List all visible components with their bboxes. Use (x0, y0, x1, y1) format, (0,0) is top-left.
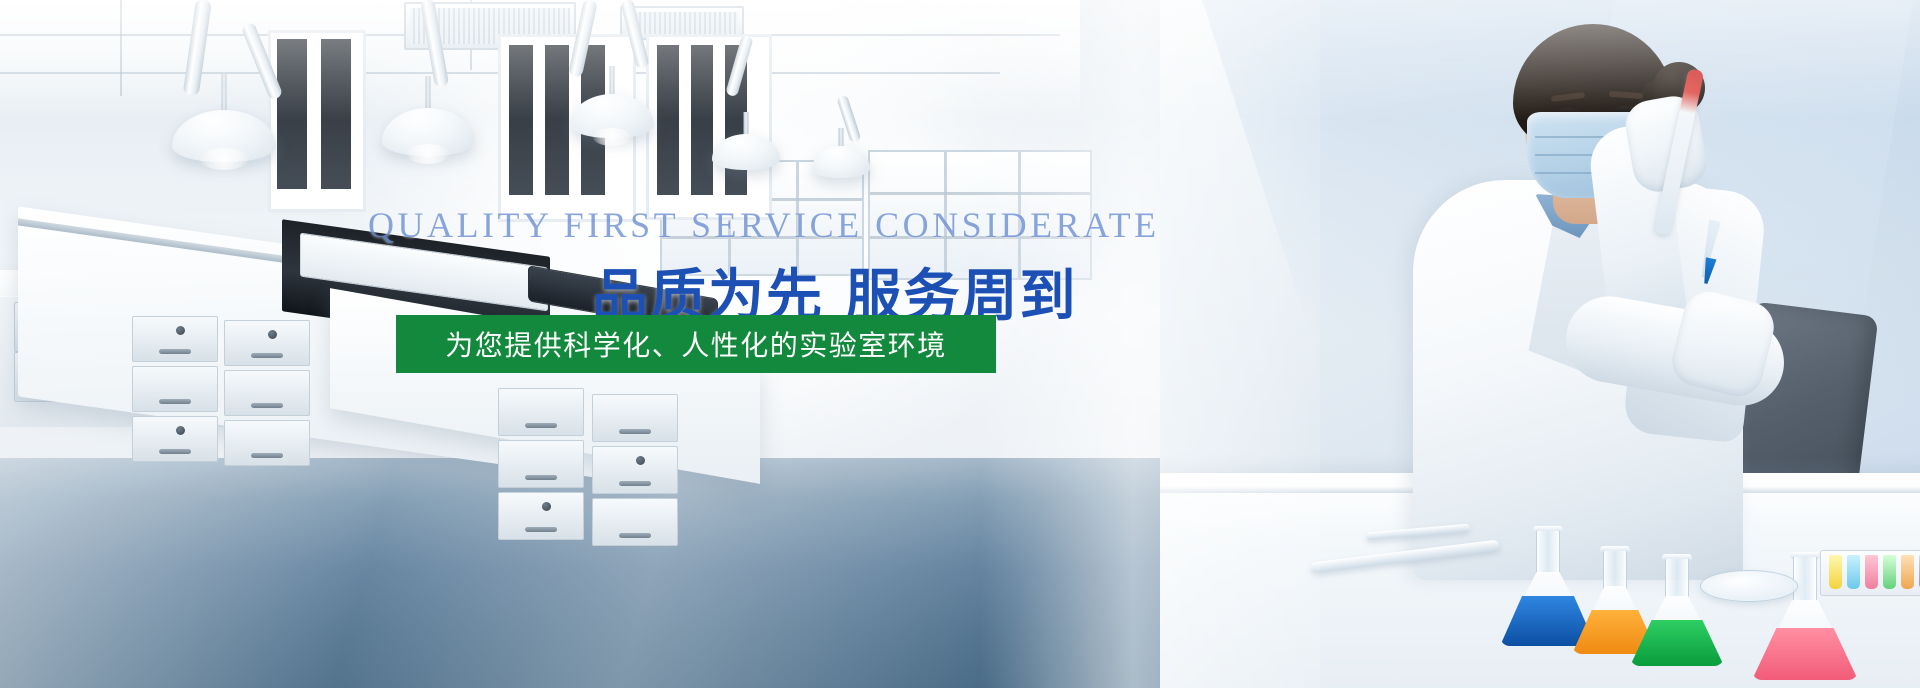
banner-subtitle: 为您提供科学化、人性化的实验室环境 (445, 324, 947, 364)
english-tagline: QUALITY FIRST SERVICE CONSIDERATE (368, 204, 1160, 246)
hero-banner: QUALITY FIRST SERVICE CONSIDERATE 品质为先 服… (0, 0, 1920, 688)
subtitle-band: 为您提供科学化、人性化的实验室环境 (396, 315, 996, 373)
banner-text-overlay: QUALITY FIRST SERVICE CONSIDERATE 品质为先 服… (0, 0, 1920, 688)
